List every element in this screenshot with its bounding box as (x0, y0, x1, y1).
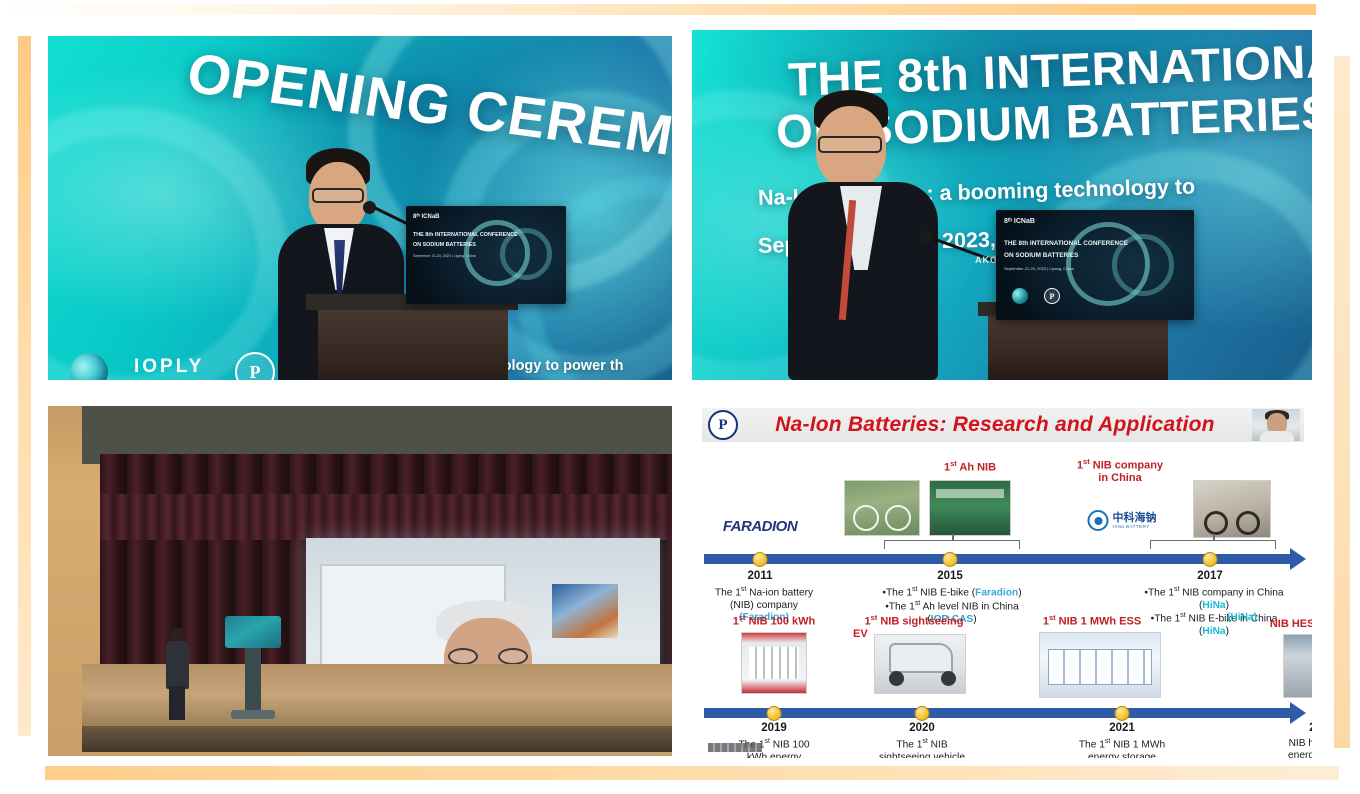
podium (988, 312, 1168, 380)
stage-apron (82, 726, 672, 752)
year-label-2011: 2011 (748, 570, 773, 582)
person-body (166, 641, 189, 689)
timeline-row-2011-2018: FARADION 中科海钠HiNa BATTERY 1st Ah NIB 1st… (702, 444, 1304, 612)
thumb-china-ebike (1193, 480, 1271, 538)
person-on-stage (164, 628, 190, 720)
year-label-2022: 2022 (1309, 722, 1312, 734)
caption-ah-nib: 1st Ah NIB (920, 460, 1020, 474)
microphone-head (920, 230, 933, 243)
speaker-figure (788, 90, 998, 380)
podium-conference-sign: 8ᵗʰ ICNaB THE 8th INTERNATIONAL CONFEREN… (996, 210, 1194, 320)
timeline-node-2020 (915, 706, 930, 721)
ioply-logo: IOPLY 中国科学院物理研究所 (134, 356, 209, 380)
year-label-2019: 2019 (761, 722, 787, 734)
screen-logo-row: IOPLY 中国科学院物理研究所 P (70, 352, 275, 380)
lectern-column (245, 648, 261, 710)
thumb-ah-nib-cell (929, 480, 1011, 536)
keynote-speaker-photo: THE 8th INTERNATIONAL ON SODIUM BATTERIE… (692, 30, 1312, 380)
podium-conference-sign: 8ᵗʰ ICNaB THE 8th INTERNATIONAL CONFEREN… (406, 206, 566, 304)
opening-ceremony-photo: OPENING CEREMONY IOPLY 中国科学院物理研究所 P ries… (48, 36, 672, 380)
sign-line2: ON SODIUM BATTERIES (413, 242, 476, 249)
speaker-video-inset (1252, 409, 1300, 441)
year-label-2020: 2020 (909, 722, 935, 734)
timeline-row-2019-2023: 1st NIB 100 kWh 1st NIB sightseeingEV 1s… (702, 612, 1304, 758)
wall-poster (552, 584, 618, 638)
bottom-accent-bar (45, 766, 1339, 780)
person-legs (169, 686, 185, 720)
person-head (171, 628, 184, 642)
speaker-glasses (312, 188, 364, 203)
sign-line1: THE 8th INTERNATIONAL CONFERENCE (1004, 240, 1128, 248)
moon-logo-icon (1012, 288, 1028, 304)
desc-2022: NIB householdenergy storagesystem (20 kW… (1261, 738, 1312, 758)
slide-watermark (708, 743, 762, 752)
microphone-brand-label: AKG (975, 255, 998, 265)
sign-line3: September 21-24, 2023 | Liyang, China (1004, 266, 1074, 271)
institute-seal-icon: P (1044, 288, 1060, 304)
sign-brand: 8ᵗʰ ICNaB (1004, 218, 1035, 227)
timeline-node-2015 (943, 552, 958, 567)
sign-line2: ON SODIUM BATTERIES (1004, 252, 1078, 260)
bracket-2015 (884, 540, 1020, 549)
timeline-node-2021 (1115, 706, 1130, 721)
ioply-logo-text: IOPLY (134, 356, 209, 378)
timeline-node-2011 (753, 552, 768, 567)
timeline-axis (704, 708, 1292, 718)
timeline-node-2017 (1203, 552, 1218, 567)
caption-1mwh-ess: 1st NIB 1 MWh ESS (1017, 614, 1167, 628)
faradion-logo: FARADION (723, 518, 797, 535)
slide-header: P Na-Ion Batteries: Research and Applica… (702, 408, 1304, 442)
thumb-1mwh-ess (1039, 632, 1161, 698)
presenter-glasses-icon (448, 648, 528, 665)
institute-seal-icon: P (235, 352, 275, 380)
year-label-2017: 2017 (1197, 570, 1223, 582)
stage-pelmet (100, 494, 672, 540)
caption-nib-company: 1st NIB companyin China (1050, 458, 1190, 485)
desc-2020: The 1st NIBsightseeing vehicle(HiNa) (857, 738, 987, 758)
poster-page: OPENING CEREMONY IOPLY 中国科学院物理研究所 P ries… (0, 0, 1360, 794)
sign-line3: September 21-24, 2023 | Liyang, China (413, 254, 476, 258)
left-accent-bar (18, 36, 31, 736)
slide-title: Na-Ion Batteries: Research and Applicati… (738, 413, 1252, 437)
stage-lectern (225, 616, 281, 722)
timeline-node-2019 (767, 706, 782, 721)
lectern-top (225, 616, 281, 648)
inset-shirt (1260, 431, 1294, 441)
desc-2017-overflow: (HiNa) (1212, 612, 1272, 624)
hina-logo-text: 中科海钠HiNa BATTERY (1113, 513, 1157, 529)
institute-seal-icon: P (708, 410, 738, 440)
moon-logo-icon (70, 353, 108, 380)
top-accent-bar (0, 4, 1316, 15)
caption-nib-100kwh: 1st NIB 100 kWh (704, 614, 844, 628)
podium (318, 304, 508, 380)
auditorium-remote-talk-photo: can be a good candidate for sodium inter… (48, 406, 672, 756)
lectern-base (231, 710, 275, 719)
speaker-glasses (818, 136, 882, 153)
hina-battery-logo: 中科海钠HiNa BATTERY (1088, 510, 1157, 531)
desc-2021: The 1st NIB 1 MWhenergy storagesystem (H… (1054, 738, 1190, 758)
sign-line1: THE 8th INTERNATIONAL CONFERENCE (413, 232, 518, 239)
thumb-nib-ebike (844, 480, 920, 536)
right-accent-bar (1334, 56, 1350, 748)
hina-ring-icon (1088, 510, 1109, 531)
year-label-2015: 2015 (937, 570, 963, 582)
ioply-logo-subtext: 中国科学院物理研究所 (134, 378, 209, 380)
year-label-2021: 2021 (1109, 722, 1135, 734)
microphone-head (363, 201, 376, 214)
slide-canvas: P Na-Ion Batteries: Research and Applica… (692, 406, 1312, 758)
thumb-hess-cabinet (1283, 634, 1312, 698)
thumb-sightseeing-ev (874, 634, 966, 694)
bracket-2017 (1150, 540, 1276, 549)
thumb-100kwh-rack (741, 632, 807, 694)
sign-brand: 8ᵗʰ ICNaB (413, 214, 440, 222)
timeline-slide-photo: P Na-Ion Batteries: Research and Applica… (692, 406, 1312, 758)
